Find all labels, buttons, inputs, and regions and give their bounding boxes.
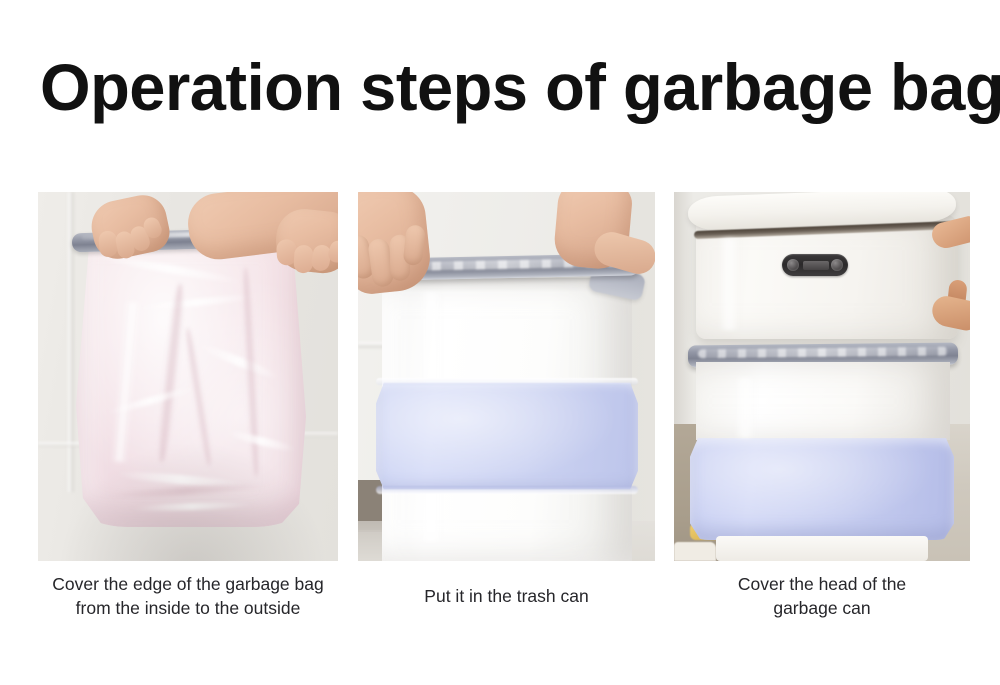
silicone-band [690,436,954,540]
trash-can-body [696,362,950,440]
step-3-photo [674,192,970,561]
silicone-band [376,378,638,494]
mode-button-icon[interactable] [831,259,843,271]
step-2-photo [358,192,655,561]
white-object-left [674,542,716,561]
poster-canvas: Operation steps of garbage bag [0,0,1000,685]
step-1-scene [38,192,338,561]
step-2-caption: Put it in the trash can [358,584,655,608]
power-button-icon[interactable] [787,259,799,271]
status-display [803,261,829,270]
wall-edge [674,192,694,432]
silicone-band-top-edge [376,378,638,385]
silicone-band-bottom-edge [376,486,638,494]
step-2-scene [358,192,655,561]
bag-rim-texture [698,347,948,359]
step-1-photo [38,192,338,561]
page-title: Operation steps of garbage bag [40,52,966,122]
trash-can-base [716,536,928,561]
step-1-caption: Cover the edge of the garbage bag from t… [20,572,356,620]
control-panel [782,254,848,276]
floor-shadow [58,441,328,561]
step-3-caption: Cover the head of the garbage can [672,572,972,620]
step-3-scene [674,192,970,561]
